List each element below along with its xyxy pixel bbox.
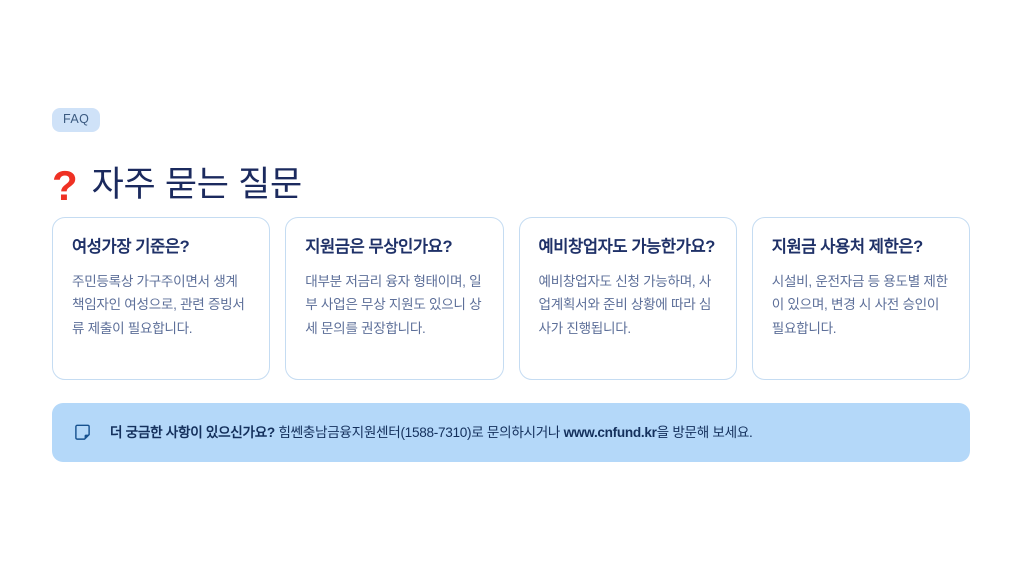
note-icon [74, 424, 91, 441]
notice-middle: 힘쎈충남금융지원센터(1588-7310)로 문의하시거나 [275, 425, 564, 440]
header: FAQ ? 자주 묻는 질문 [52, 108, 972, 228]
notice-bar: 더 궁금한 사항이 있으신가요? 힘쎈충남금융지원센터(1588-7310)로 … [52, 403, 970, 462]
faq-slide: FAQ ? 자주 묻는 질문 여성가장 기준은? 주민등록상 가구주이면서 생계… [0, 0, 1024, 576]
faq-answer: 주민등록상 가구주이면서 생계 책임자인 여성으로, 관련 증빙서류 제출이 필… [72, 270, 250, 340]
faq-card[interactable]: 예비창업자도 가능한가요? 예비창업자도 신청 가능하며, 사업계획서와 준비 … [519, 217, 737, 380]
faq-answer: 시설비, 운전자금 등 용도별 제한이 있으며, 변경 시 사전 승인이 필요합… [772, 270, 950, 340]
faq-card[interactable]: 지원금은 무상인가요? 대부분 저금리 융자 형태이며, 일부 사업은 무상 지… [285, 217, 503, 380]
faq-question: 여성가장 기준은? [72, 236, 250, 259]
faq-answer: 예비창업자도 신청 가능하며, 사업계획서와 준비 상황에 따라 심사가 진행됩… [539, 270, 717, 340]
notice-lead: 더 궁금한 사항이 있으신가요? [110, 425, 275, 440]
notice-link[interactable]: www.cnfund.kr [564, 425, 657, 440]
faq-card[interactable]: 여성가장 기준은? 주민등록상 가구주이면서 생계 책임자인 여성으로, 관련 … [52, 217, 270, 380]
title-row: ? 자주 묻는 질문 [52, 143, 972, 228]
question-mark-icon: ? [52, 165, 78, 207]
notice-text: 더 궁금한 사항이 있으신가요? 힘쎈충남금융지원센터(1588-7310)로 … [110, 423, 753, 442]
faq-card[interactable]: 지원금 사용처 제한은? 시설비, 운전자금 등 용도별 제한이 있으며, 변경… [752, 217, 970, 380]
page-title: 자주 묻는 질문 [92, 166, 302, 205]
faq-badge: FAQ [52, 108, 100, 132]
notice-tail: 을 방문해 보세요. [657, 425, 753, 440]
faq-card-list: 여성가장 기준은? 주민등록상 가구주이면서 생계 책임자인 여성으로, 관련 … [52, 217, 970, 380]
faq-question: 지원금은 무상인가요? [305, 236, 483, 259]
faq-question: 예비창업자도 가능한가요? [539, 236, 717, 259]
faq-question: 지원금 사용처 제한은? [772, 236, 950, 259]
faq-answer: 대부분 저금리 융자 형태이며, 일부 사업은 무상 지원도 있으니 상세 문의… [305, 270, 483, 340]
